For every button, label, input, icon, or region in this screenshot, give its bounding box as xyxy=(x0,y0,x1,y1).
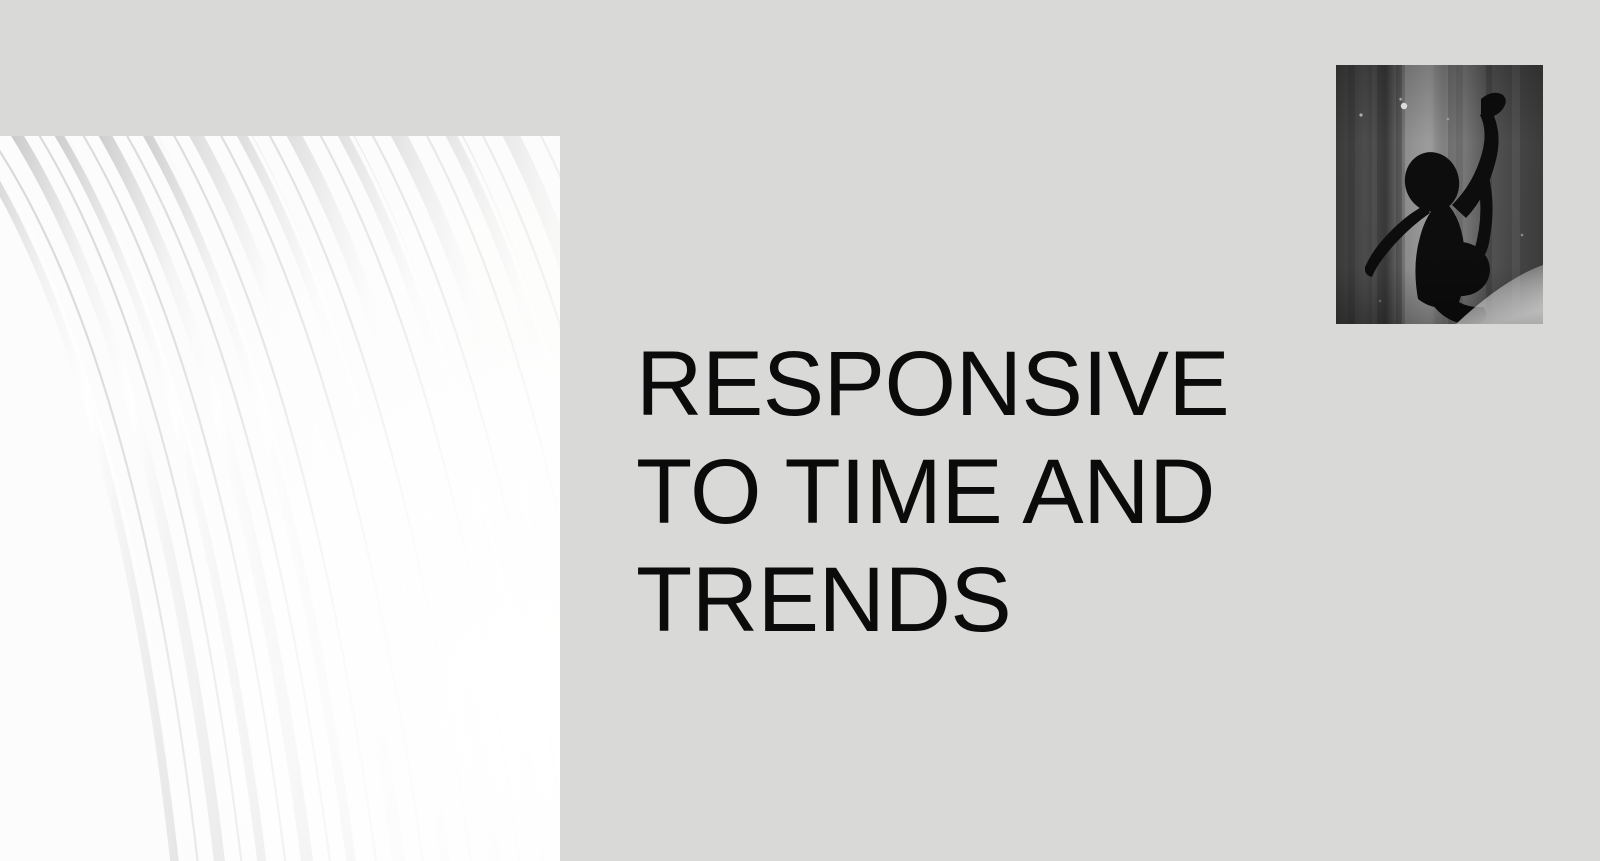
architecture-image-inner xyxy=(0,136,560,861)
page-title: RESPONSIVE TO TIME AND TRENDS xyxy=(636,330,1256,654)
dancer-image xyxy=(1336,65,1543,324)
headline-line-2: TO TIME AND xyxy=(636,438,1256,546)
slide-canvas: RESPONSIVE TO TIME AND TRENDS xyxy=(0,0,1600,861)
architecture-ribs-graphic xyxy=(0,136,560,861)
headline-line-3: TRENDS xyxy=(636,546,1256,654)
architecture-image xyxy=(0,136,560,861)
headline-line-1: RESPONSIVE xyxy=(636,330,1256,438)
dancer-silhouette-graphic xyxy=(1336,65,1543,324)
